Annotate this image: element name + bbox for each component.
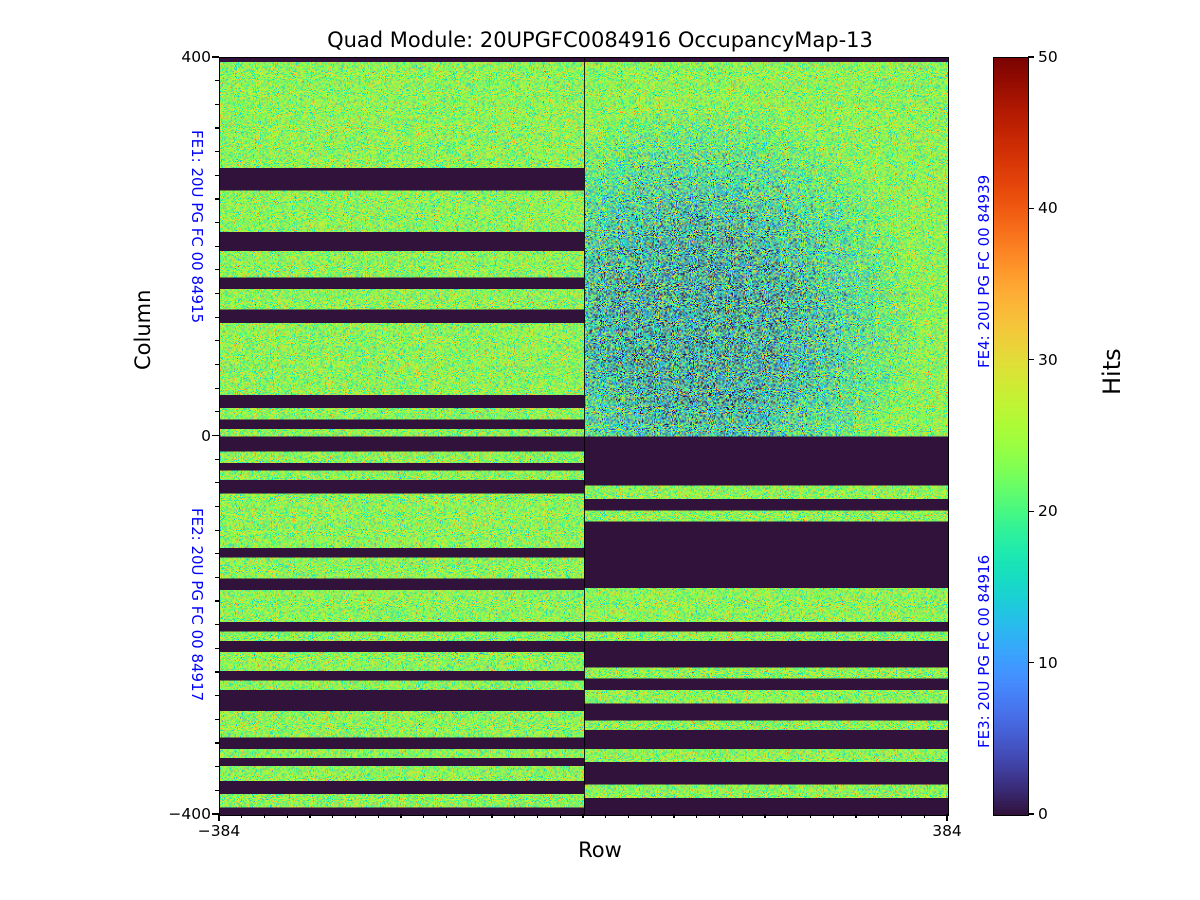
colorbar-tick — [1028, 56, 1034, 57]
x-minor-tick — [651, 814, 652, 818]
colorbar-tick-label: 0 — [1038, 805, 1048, 823]
x-axis-label: Row — [0, 838, 1200, 862]
x-minor-tick — [264, 814, 265, 818]
colorbar-tick — [1028, 208, 1034, 209]
y-minor-tick — [215, 246, 219, 247]
y-minor-tick — [215, 198, 219, 199]
x-minor-tick — [924, 814, 925, 818]
colorbar-tick — [1028, 662, 1034, 663]
y-minor-tick — [215, 506, 219, 507]
y-minor-tick — [215, 482, 219, 483]
y-tick-label: −400 — [151, 805, 211, 823]
fe-label-fe2: FE2: 20U PG FC 00 84917 — [188, 508, 206, 701]
heatmap-axes[interactable] — [219, 57, 949, 816]
x-minor-tick — [287, 814, 288, 818]
y-minor-tick — [215, 459, 219, 460]
colorbar-label: Hits — [1098, 348, 1126, 395]
y-minor-tick — [215, 317, 219, 318]
x-minor-tick — [742, 814, 743, 818]
x-minor-tick — [855, 814, 856, 818]
y-minor-tick — [215, 648, 219, 649]
x-minor-tick — [423, 814, 424, 818]
colorbar-tick-label: 50 — [1038, 48, 1058, 66]
y-minor-tick — [215, 790, 219, 791]
x-minor-tick — [469, 814, 470, 818]
occupancy-map-figure: Quad Module: 20UPGFC0084916 OccupancyMap… — [0, 0, 1200, 900]
y-minor-tick — [215, 175, 219, 176]
y-minor-tick — [215, 624, 219, 625]
colorbar-tick-label: 10 — [1038, 654, 1058, 672]
y-major-tick — [212, 435, 219, 436]
y-minor-tick — [215, 151, 219, 152]
x-minor-tick — [309, 814, 310, 818]
x-minor-tick — [628, 814, 629, 818]
y-minor-tick — [215, 364, 219, 365]
colorbar-tick-label: 30 — [1038, 351, 1058, 369]
colorbar-tick-label: 20 — [1038, 502, 1058, 520]
y-minor-tick — [215, 80, 219, 81]
x-minor-tick — [537, 814, 538, 818]
colorbar-tick — [1028, 511, 1034, 512]
colorbar-tick-label: 40 — [1038, 199, 1058, 217]
x-minor-tick — [719, 814, 720, 818]
x-minor-tick — [810, 814, 811, 818]
x-minor-tick — [787, 814, 788, 818]
y-tick-label: 0 — [151, 427, 211, 445]
x-minor-tick — [355, 814, 356, 818]
y-minor-tick — [215, 222, 219, 223]
x-minor-tick — [764, 814, 765, 818]
y-minor-tick — [215, 553, 219, 554]
x-minor-tick — [491, 814, 492, 818]
y-minor-tick — [215, 577, 219, 578]
x-minor-tick — [582, 814, 583, 818]
y-minor-tick — [215, 269, 219, 270]
x-minor-tick — [332, 814, 333, 818]
fe-label-fe3: FE3: 20U PG FC 00 84916 — [975, 555, 993, 748]
y-minor-tick — [215, 766, 219, 767]
x-minor-tick — [446, 814, 447, 818]
y-minor-tick — [215, 104, 219, 105]
x-minor-tick — [605, 814, 606, 818]
y-minor-tick — [215, 600, 219, 601]
x-minor-tick — [901, 814, 902, 818]
y-minor-tick — [215, 671, 219, 672]
y-minor-tick — [215, 530, 219, 531]
colorbar[interactable] — [993, 57, 1029, 816]
x-minor-tick — [378, 814, 379, 818]
colorbar-tick — [1028, 813, 1034, 814]
y-axis-label: Column — [131, 290, 155, 370]
y-minor-tick — [215, 695, 219, 696]
colorbar-gradient — [994, 58, 1028, 815]
y-minor-tick — [215, 411, 219, 412]
y-minor-tick — [215, 293, 219, 294]
quadrant-divider — [584, 58, 585, 815]
y-minor-tick — [215, 388, 219, 389]
y-major-tick — [212, 56, 219, 57]
y-minor-tick — [215, 742, 219, 743]
x-minor-tick — [400, 814, 401, 818]
y-minor-tick — [215, 340, 219, 341]
x-minor-tick — [833, 814, 834, 818]
x-major-tick — [218, 814, 219, 821]
x-minor-tick — [241, 814, 242, 818]
y-tick-label: 400 — [151, 48, 211, 66]
x-minor-tick — [514, 814, 515, 818]
x-minor-tick — [560, 814, 561, 818]
fe-label-fe1: FE1: 20U PG FC 00 84915 — [188, 130, 206, 323]
x-major-tick — [946, 814, 947, 821]
colorbar-tick — [1028, 359, 1034, 360]
x-minor-tick — [878, 814, 879, 818]
x-minor-tick — [673, 814, 674, 818]
y-minor-tick — [215, 719, 219, 720]
x-minor-tick — [696, 814, 697, 818]
fe-label-fe4: FE4: 20U PG FC 00 84939 — [975, 175, 993, 368]
y-minor-tick — [215, 127, 219, 128]
